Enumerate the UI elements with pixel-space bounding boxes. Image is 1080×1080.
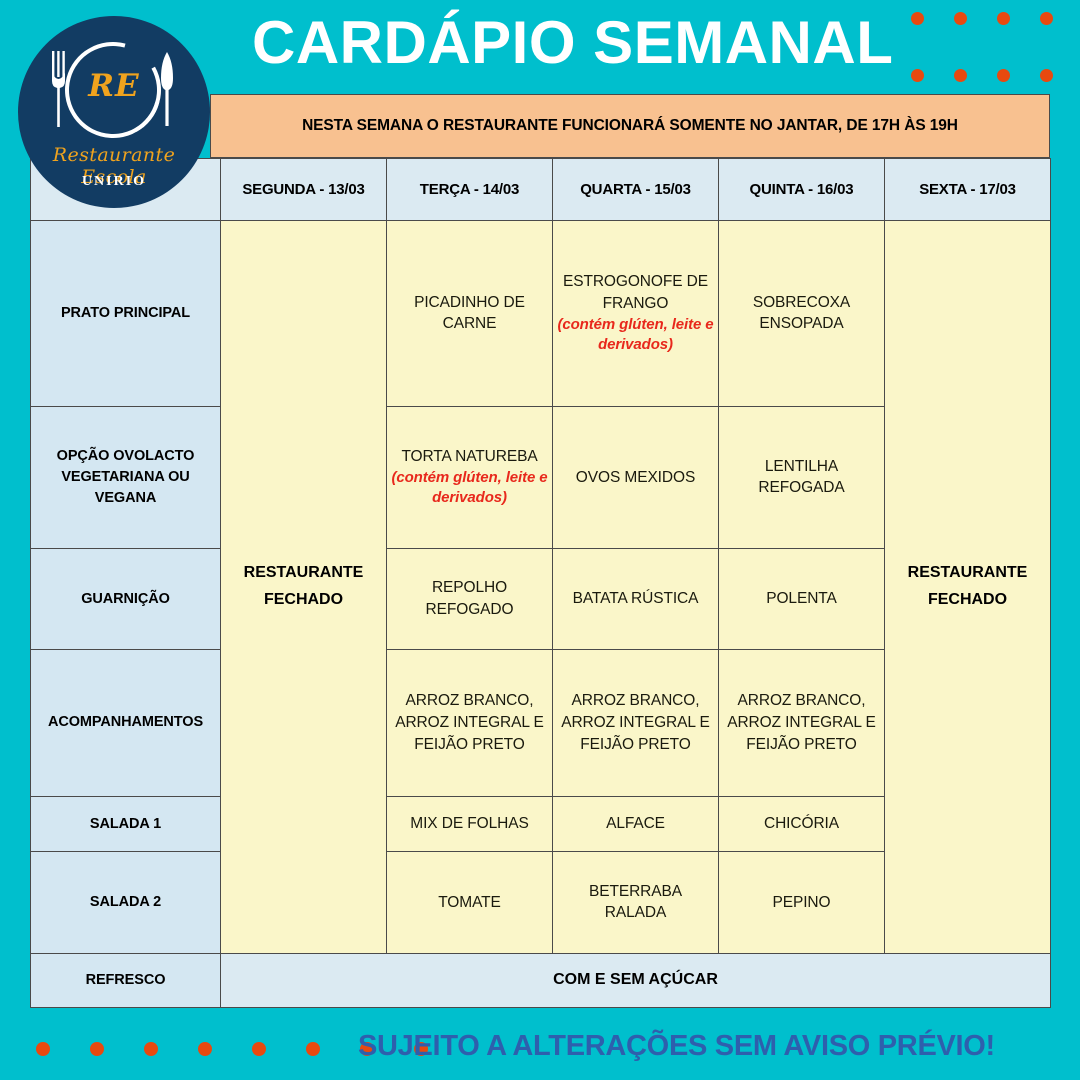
row-label-refresco: REFRESCO	[31, 953, 221, 1007]
decorative-dot	[1040, 12, 1053, 25]
page-title: CARDÁPIO SEMANAL	[252, 4, 893, 82]
decorative-dot	[198, 1042, 212, 1056]
restaurant-logo: RE Restaurante Escola UNIRIO	[18, 16, 210, 208]
menu-cell-quinta-vegetariana: LENTILHA REFOGADA	[719, 406, 885, 548]
menu-cell-quinta-guarnicao: POLENTA	[719, 549, 885, 650]
logo-initials: RE	[18, 68, 210, 104]
row-label-acompanhamentos: ACOMPANHAMENTOS	[31, 650, 221, 796]
closed-cell-segunda: RESTAURANTE FECHADO	[221, 221, 387, 954]
menu-cell-quinta-salada-2: PEPINO	[719, 852, 885, 953]
closed-line-1: RESTAURANTE	[908, 564, 1028, 581]
row-label-opcao-vegetariana: OPÇÃO OVOLACTO VEGETARIANA OU VEGANA	[31, 406, 221, 548]
table-row: PRATO PRINCIPAL RESTAURANTE FECHADO PICA…	[31, 221, 1051, 407]
decorative-dot	[997, 12, 1010, 25]
menu-cell-quarta-prato-principal: ESTROGONOFE DE FRANGO (contém glúten, le…	[553, 221, 719, 407]
dish-name: ESTROGONOFE DE FRANGO	[563, 273, 708, 312]
decorative-dot	[1040, 69, 1053, 82]
menu-cell-quinta-prato-principal: SOBRECOXA ENSOPADA	[719, 221, 885, 407]
day-header-sexta: SEXTA - 17/03	[885, 159, 1051, 221]
decorative-dot	[144, 1042, 158, 1056]
decorative-dot	[911, 12, 924, 25]
row-label-salada-2: SALADA 2	[31, 852, 221, 953]
closed-line-2: FECHADO	[264, 591, 343, 608]
weekly-notice-banner: NESTA SEMANA O RESTAURANTE FUNCIONARÁ SO…	[210, 94, 1050, 158]
menu-cell-quarta-guarnicao: BATATA RÚSTICA	[553, 549, 719, 650]
menu-cell-terca-salada-1: MIX DE FOLHAS	[387, 796, 553, 852]
row-label-prato-principal: PRATO PRINCIPAL	[31, 221, 221, 407]
dish-name: TORTA NATUREBA	[401, 448, 537, 465]
closed-line-2: FECHADO	[928, 591, 1007, 608]
decorative-dot	[997, 69, 1010, 82]
menu-cell-terca-prato-principal: PICADINHO DE CARNE	[387, 221, 553, 407]
menu-cell-refresco-all-days: COM E SEM AÇÚCAR	[221, 953, 1051, 1007]
header-dot-decoration	[896, 12, 1068, 82]
menu-table-container: SEGUNDA - 13/03 TERÇA - 14/03 QUARTA - 1…	[30, 158, 1050, 1008]
disclaimer-text: SUJEITO A ALTERAÇÕES SEM AVISO PRÉVIO!	[358, 1030, 995, 1063]
decorative-dot	[90, 1042, 104, 1056]
day-header-quarta: QUARTA - 15/03	[553, 159, 719, 221]
menu-cell-quarta-salada-1: ALFACE	[553, 796, 719, 852]
closed-line-1: RESTAURANTE	[244, 564, 364, 581]
decorative-dot	[36, 1042, 50, 1056]
row-label-guarnicao: GUARNIÇÃO	[31, 549, 221, 650]
menu-cell-quarta-acompanhamentos: ARROZ BRANCO, ARROZ INTEGRAL E FEIJÃO PR…	[553, 650, 719, 796]
menu-cell-terca-vegetariana: TORTA NATUREBA (contém glúten, leite e d…	[387, 406, 553, 548]
menu-cell-quarta-salada-2: BETERRABA RALADA	[553, 852, 719, 953]
closed-cell-sexta: RESTAURANTE FECHADO	[885, 221, 1051, 954]
menu-cell-terca-salada-2: TOMATE	[387, 852, 553, 953]
menu-cell-quinta-acompanhamentos: ARROZ BRANCO, ARROZ INTEGRAL E FEIJÃO PR…	[719, 650, 885, 796]
logo-institution: UNIRIO	[18, 174, 210, 190]
day-header-quinta: QUINTA - 16/03	[719, 159, 885, 221]
allergen-note: (contém glúten, leite e derivados)	[557, 315, 714, 356]
menu-cell-quinta-salada-1: CHICÓRIA	[719, 796, 885, 852]
day-header-terca: TERÇA - 14/03	[387, 159, 553, 221]
weekly-menu-table: SEGUNDA - 13/03 TERÇA - 14/03 QUARTA - 1…	[30, 158, 1051, 1008]
decorative-dot	[911, 69, 924, 82]
decorative-dot	[306, 1042, 320, 1056]
day-header-segunda: SEGUNDA - 13/03	[221, 159, 387, 221]
menu-cell-terca-guarnicao: REPOLHO REFOGADO	[387, 549, 553, 650]
menu-cell-terca-acompanhamentos: ARROZ BRANCO, ARROZ INTEGRAL E FEIJÃO PR…	[387, 650, 553, 796]
page-footer: SUJEITO A ALTERAÇÕES SEM AVISO PRÉVIO!	[0, 1012, 1080, 1080]
decorative-dot	[954, 12, 967, 25]
menu-cell-quarta-vegetariana: OVOS MEXIDOS	[553, 406, 719, 548]
row-label-salada-1: SALADA 1	[31, 796, 221, 852]
allergen-note: (contém glúten, leite e derivados)	[391, 468, 548, 509]
notice-text: NESTA SEMANA O RESTAURANTE FUNCIONARÁ SO…	[302, 117, 958, 135]
table-row-refresco: REFRESCO COM E SEM AÇÚCAR	[31, 953, 1051, 1007]
decorative-dot	[954, 69, 967, 82]
decorative-dot	[252, 1042, 266, 1056]
